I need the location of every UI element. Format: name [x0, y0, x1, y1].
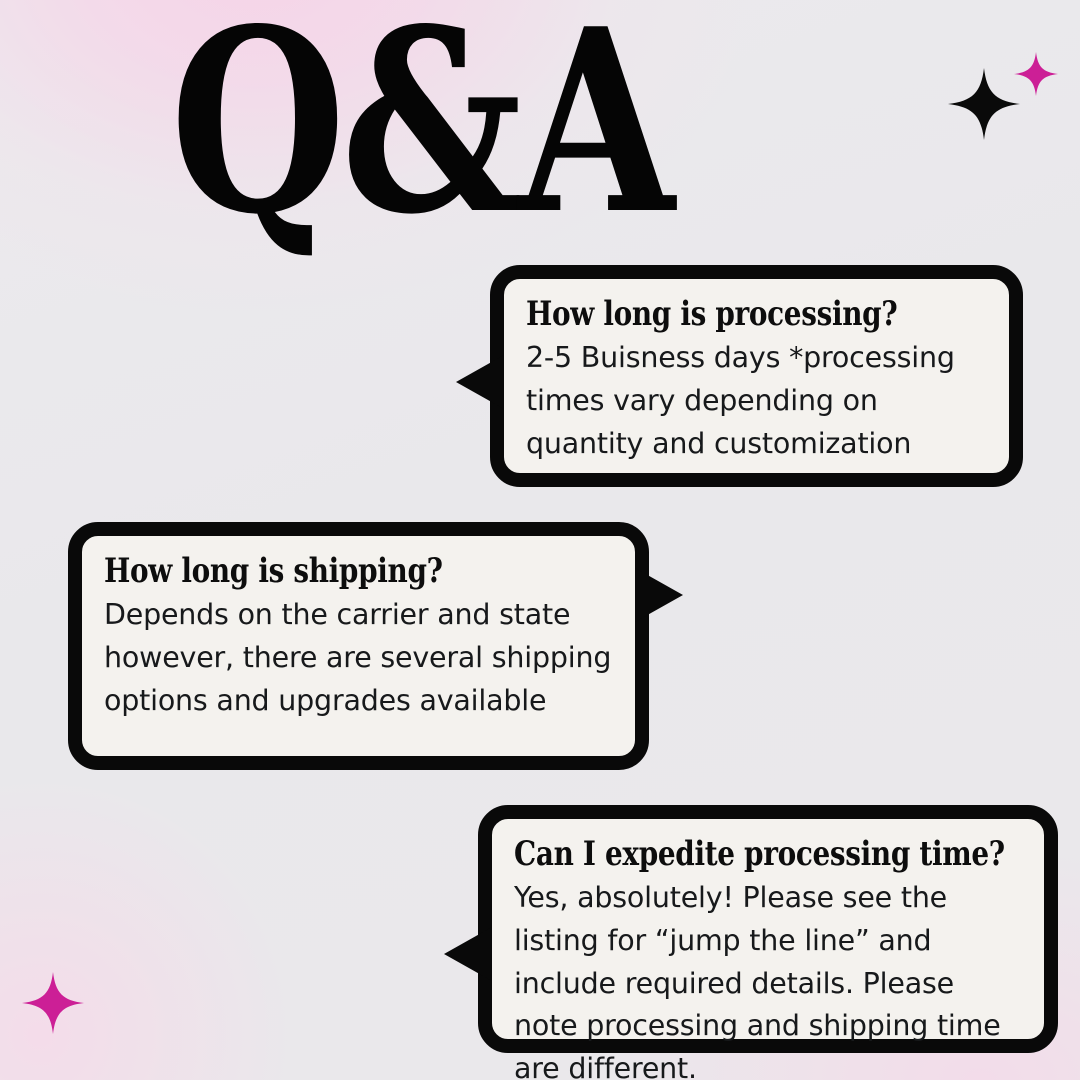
speech-bubble-expedite: Can I expedite processing time? Yes, abs…	[478, 805, 1058, 1053]
bubble-body: Depends on the carrier and state however…	[104, 594, 613, 722]
page-title: Q&A	[108, 0, 972, 251]
bubble-body: 2-5 Buisness days *processing times vary…	[526, 337, 987, 465]
speech-bubble-shipping: How long is shipping? Depends on the car…	[68, 522, 649, 770]
sparkle-black-top-right-icon	[948, 68, 1020, 140]
bubble-heading: How long is processing?	[526, 295, 904, 333]
bubble-tail-left	[444, 927, 492, 981]
qa-graphic-canvas: Q&A How long is processing? 2-5 Buisness…	[0, 0, 1080, 1080]
bubble-tail-left	[456, 355, 504, 409]
bubble-body: Yes, absolutely! Please see the listing …	[514, 877, 1022, 1080]
bubble-heading: How long is shipping?	[104, 552, 521, 590]
bubble-tail-right	[635, 568, 683, 622]
speech-bubble-processing: How long is processing? 2-5 Buisness day…	[490, 265, 1023, 487]
sparkle-magenta-bottom-left-icon	[22, 972, 84, 1034]
bubble-heading: Can I expedite processing time?	[514, 835, 931, 873]
sparkle-magenta-top-right-icon	[1014, 52, 1058, 96]
